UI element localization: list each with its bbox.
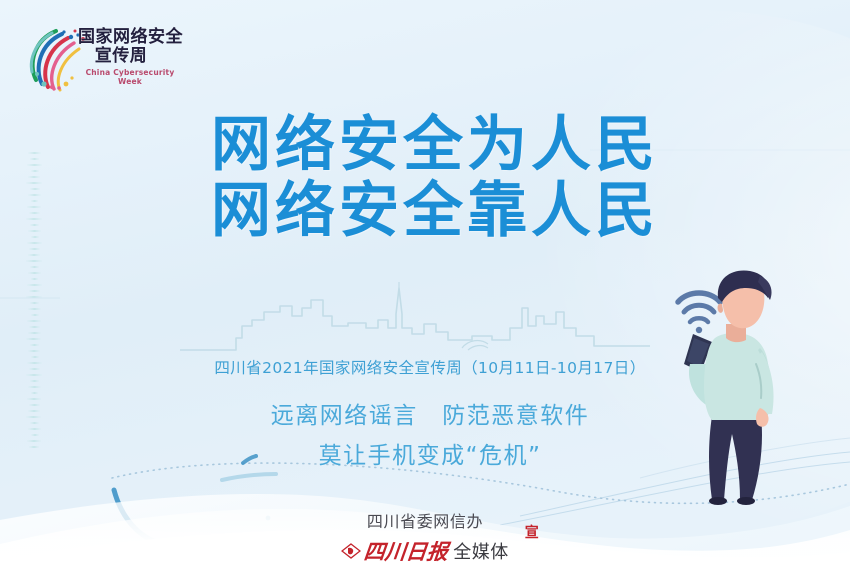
wifi-signal-icon [678, 293, 720, 333]
footer-block: 四川省委网信办 四川日报 全媒体 宣 [0, 508, 850, 566]
slogan-line-2: 莫让手机变成“危机” [150, 436, 710, 470]
logo-line-1: 国家网络安全 [78, 28, 190, 47]
logo-line-3-english: China Cybersecurity Week [78, 68, 190, 86]
event-date-line: 四川省2021年国家网络安全宣传周（10月11日-10月17日） [150, 356, 710, 378]
poster-canvas: 国家网络安全 宣传周 China Cybersecurity Week 网络安全… [0, 0, 850, 580]
person-holding-phone-illustration [660, 268, 810, 510]
logo-line-2: 宣传周 [78, 47, 190, 66]
headline-block: 网络安全为人民 网络安全靠人民 [175, 112, 695, 244]
headline-line-2: 网络安全靠人民 [175, 178, 695, 244]
issuing-organization: 四川省委网信办 [0, 508, 850, 532]
subtitle-block: 四川省2021年国家网络安全宣传周（10月11日-10月17日） 远离网络谣言 … [150, 356, 710, 470]
cybersecurity-week-logo: 国家网络安全 宣传周 China Cybersecurity Week [26, 24, 186, 96]
slogan-line-1: 远离网络谣言 防范恶意软件 [150, 396, 710, 430]
city-skyline-outline-icon [180, 282, 650, 364]
stamp-character: 宣 [525, 522, 539, 542]
sichuan-daily-diamond-mark-icon [341, 543, 361, 559]
media-suffix: 全媒体 [453, 538, 509, 564]
newspaper-name: 四川日报 [363, 536, 450, 566]
media-credit: 四川日报 全媒体 宣 [341, 536, 509, 566]
headline-line-1: 网络安全为人民 [175, 112, 695, 178]
